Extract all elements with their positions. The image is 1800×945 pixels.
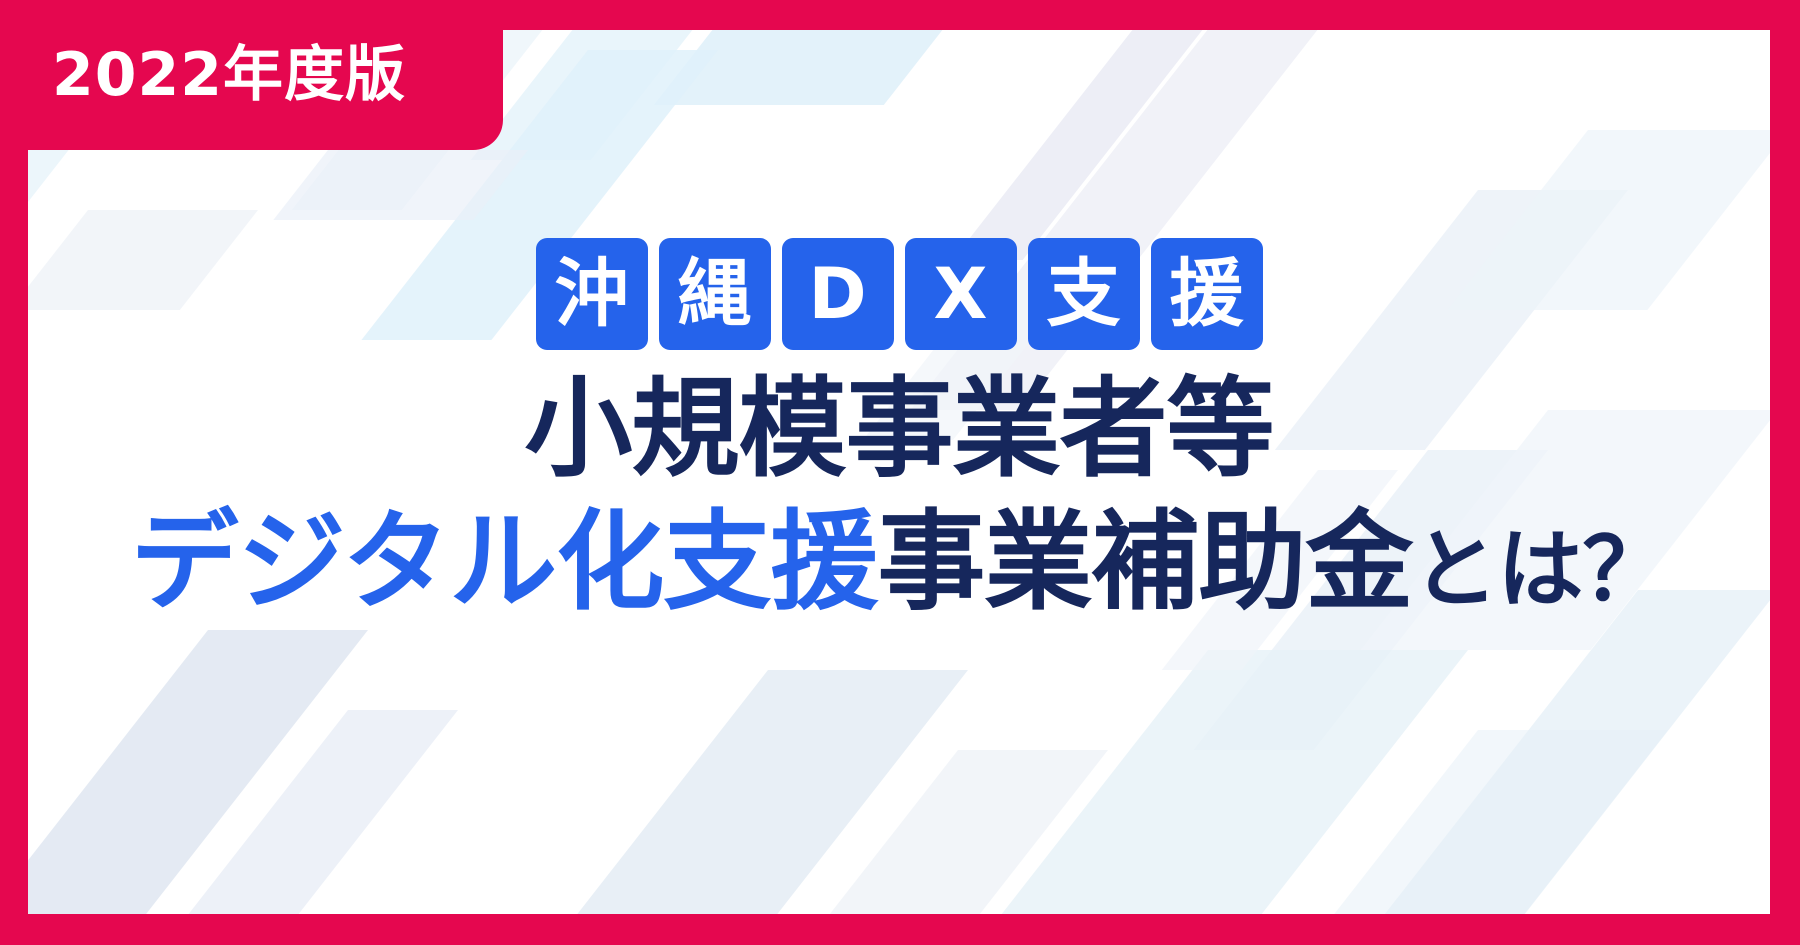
poster-canvas: 沖縄DX支援 小規模事業者等 デジタル化支援事業補助金とは？ 2022年度版 xyxy=(0,0,1800,945)
tag-badge-row: 沖縄DX支援 xyxy=(28,238,1770,350)
year-badge: 2022年度版 xyxy=(0,0,503,150)
headline-line-2: デジタル化支援事業補助金とは？ xyxy=(28,503,1770,624)
poster-content: 沖縄DX支援 小規模事業者等 デジタル化支援事業補助金とは？ xyxy=(28,30,1770,914)
headline-line-2-segment-2: 事業補助金 xyxy=(877,500,1412,625)
tag-box-4: X xyxy=(905,238,1017,350)
headline-line-2-segment-3: とは？ xyxy=(1412,520,1667,620)
year-badge-label: 2022年度版 xyxy=(0,45,406,105)
tag-box-6: 援 xyxy=(1151,238,1263,350)
tag-box-char: X xyxy=(934,259,988,329)
tag-box-5: 支 xyxy=(1028,238,1140,350)
tag-box-char: 沖 xyxy=(555,257,629,331)
tag-box-char: 援 xyxy=(1170,257,1244,331)
tag-box-char: 縄 xyxy=(678,257,752,331)
tag-box-1: 沖 xyxy=(536,238,648,350)
white-panel: 沖縄DX支援 小規模事業者等 デジタル化支援事業補助金とは？ xyxy=(28,30,1770,914)
headline-line-1: 小規模事業者等 xyxy=(28,370,1770,491)
tag-box-2: 縄 xyxy=(659,238,771,350)
headline-line-2-segment-1: デジタル化支援 xyxy=(131,500,878,625)
tag-box-char: 支 xyxy=(1047,257,1121,331)
tag-box-3: D xyxy=(782,238,894,350)
tag-box-char: D xyxy=(808,259,866,329)
headline-block: 小規模事業者等 デジタル化支援事業補助金とは？ xyxy=(28,370,1770,624)
